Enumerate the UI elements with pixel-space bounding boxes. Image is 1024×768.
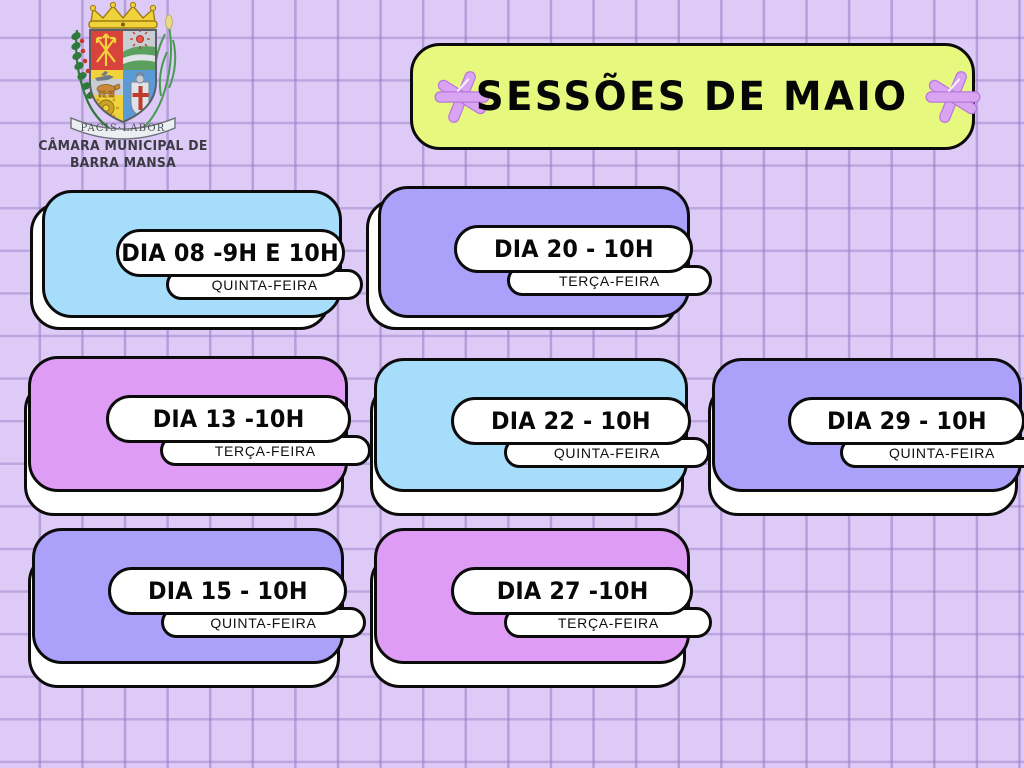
motto-text: PACIS·LABOR [81,123,166,134]
session-card: DIA 27 -10HTERÇA-FEIRA [374,528,690,664]
session-card: DIA 15 - 10HQUINTA-FEIRA [32,528,344,664]
page-title: SESSÕES DE MAIO [476,74,909,120]
session-day-pill: DIA 15 - 10H [108,567,347,615]
session-weekday-label: QUINTA-FEIRA [554,445,660,461]
session-day-pill: DIA 20 - 10H [454,225,693,273]
card-pill-stack: DIA 13 -10HTERÇA-FEIRA [106,395,351,466]
card-color-layer: DIA 08 -9H E 10HQUINTA-FEIRA [42,190,342,318]
card-pill-stack: DIA 27 -10HTERÇA-FEIRA [451,567,693,638]
coat-of-arms-icon: PACIS·LABOR [57,0,189,140]
card-pill-stack: DIA 20 - 10HTERÇA-FEIRA [454,225,693,296]
session-card: DIA 13 -10HTERÇA-FEIRA [28,356,348,492]
card-color-layer: DIA 22 - 10HQUINTA-FEIRA [374,358,688,492]
card-pill-stack: DIA 08 -9H E 10HQUINTA-FEIRA [116,229,345,300]
session-day-pill: DIA 13 -10H [106,395,351,443]
sparkle-icon [922,66,984,128]
session-card: DIA 08 -9H E 10HQUINTA-FEIRA [42,190,342,318]
session-weekday-label: TERÇA-FEIRA [559,273,660,289]
institution-name-line2: BARRA MANSA [26,155,219,172]
poster-canvas: PACIS·LABOR CÂMARA MUNICIPAL DE BARRA MA… [0,0,1024,768]
session-weekday-label: QUINTA-FEIRA [210,615,316,631]
institution-name-line1: CÂMARA MUNICIPAL DE [26,138,219,155]
session-day-label: DIA 13 -10H [153,405,305,433]
session-card: DIA 20 - 10HTERÇA-FEIRA [378,186,690,318]
card-color-layer: DIA 15 - 10HQUINTA-FEIRA [32,528,344,664]
card-pill-stack: DIA 22 - 10HQUINTA-FEIRA [451,397,691,468]
session-weekday-label: QUINTA-FEIRA [889,445,995,461]
card-color-layer: DIA 27 -10HTERÇA-FEIRA [374,528,690,664]
session-day-pill: DIA 29 - 10H [788,397,1024,445]
session-card: DIA 29 - 10HQUINTA-FEIRA [712,358,1022,492]
institution-logo-block: PACIS·LABOR CÂMARA MUNICIPAL DE BARRA MA… [18,0,228,173]
session-weekday-label: TERÇA-FEIRA [215,443,316,459]
session-weekday-label: QUINTA-FEIRA [212,277,318,293]
session-card: DIA 22 - 10HQUINTA-FEIRA [374,358,688,492]
session-day-pill: DIA 08 -9H E 10H [116,229,345,277]
title-banner: SESSÕES DE MAIO [410,43,975,150]
session-day-label: DIA 22 - 10H [491,407,651,435]
card-color-layer: DIA 20 - 10HTERÇA-FEIRA [378,186,690,318]
session-day-label: DIA 08 -9H E 10H [122,239,340,267]
session-day-pill: DIA 27 -10H [451,567,693,615]
card-color-layer: DIA 29 - 10HQUINTA-FEIRA [712,358,1022,492]
institution-name: CÂMARA MUNICIPAL DE BARRA MANSA [26,138,219,173]
session-day-label: DIA 20 - 10H [494,235,654,263]
session-day-label: DIA 29 - 10H [827,407,987,435]
card-color-layer: DIA 13 -10HTERÇA-FEIRA [28,356,348,492]
session-day-label: DIA 27 -10H [496,577,648,605]
session-weekday-label: TERÇA-FEIRA [558,615,659,631]
session-day-pill: DIA 22 - 10H [451,397,691,445]
card-pill-stack: DIA 15 - 10HQUINTA-FEIRA [108,567,347,638]
session-day-label: DIA 15 - 10H [148,577,308,605]
card-pill-stack: DIA 29 - 10HQUINTA-FEIRA [788,397,1024,468]
